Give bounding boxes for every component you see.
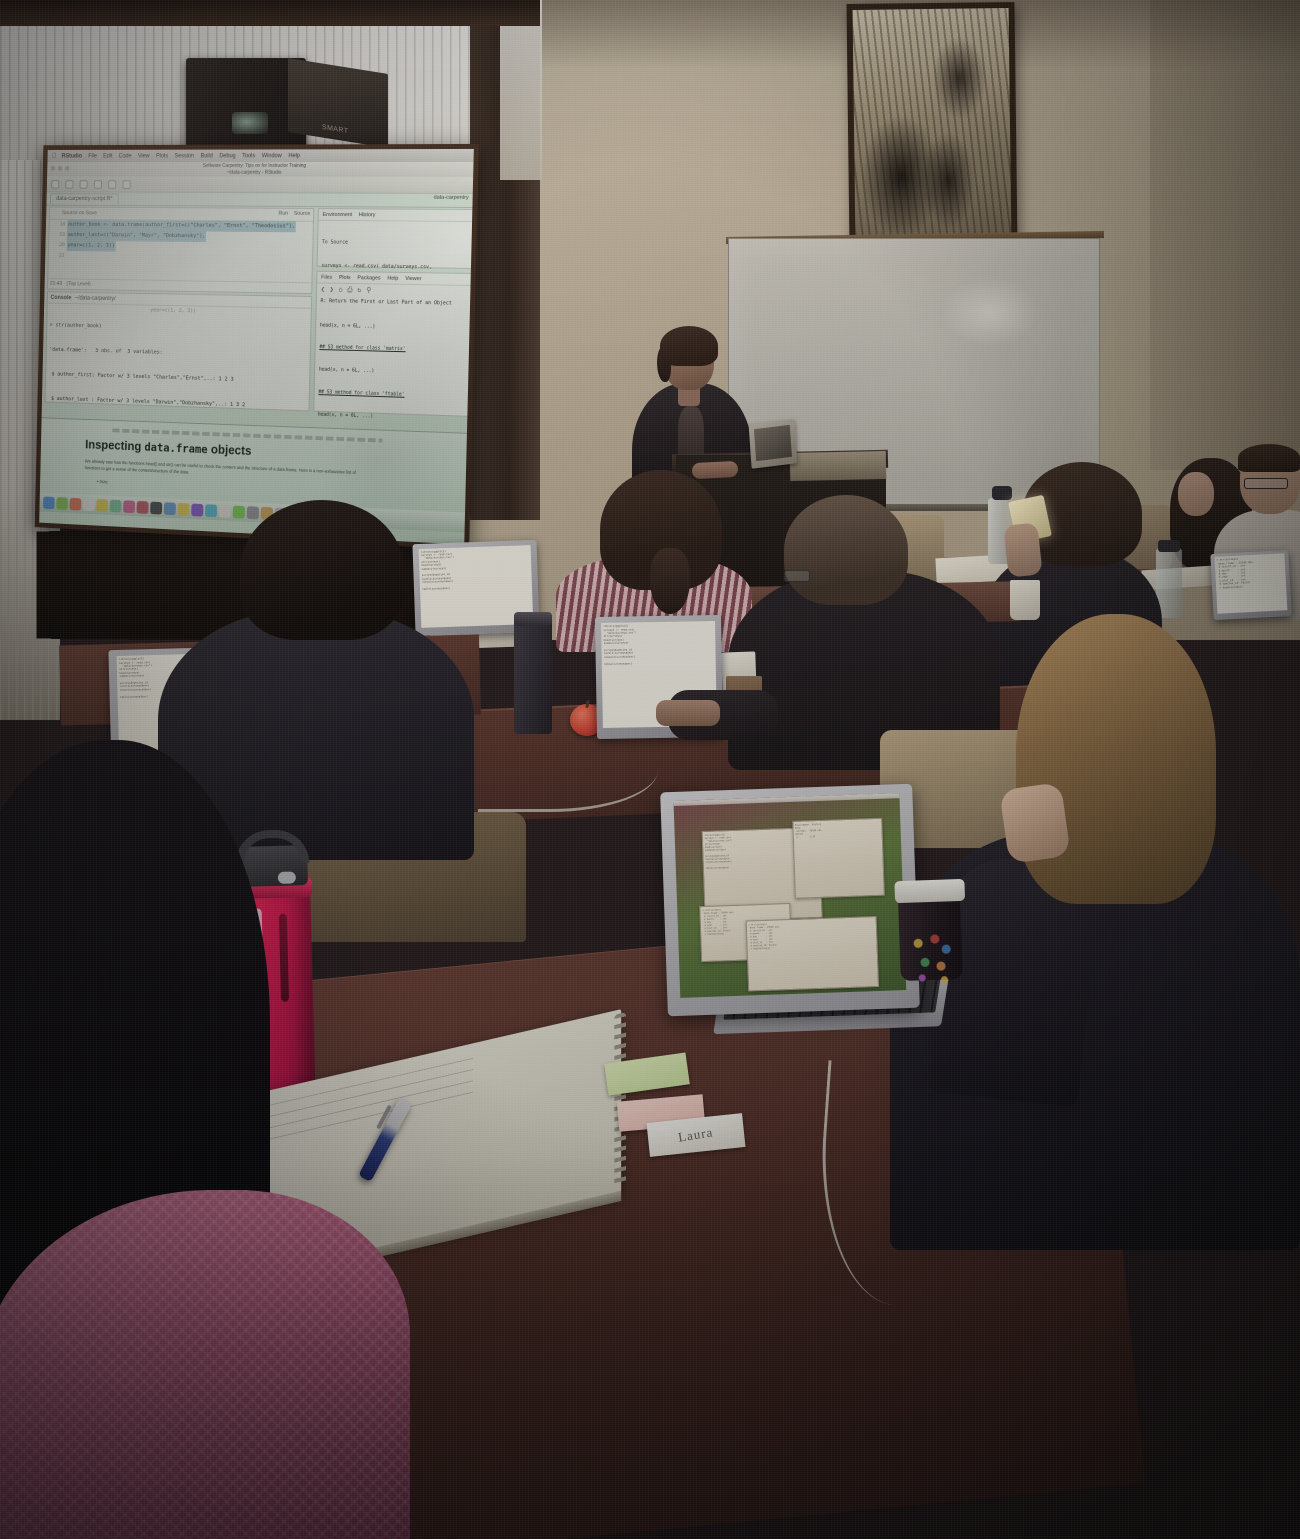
source-on-save-label[interactable]: Source on Save xyxy=(62,210,97,216)
zoom-window-button[interactable] xyxy=(65,166,70,171)
ceiling-beam xyxy=(0,0,540,26)
projected-desktop:  RStudio File Edit Code View Plots Sess… xyxy=(39,149,474,545)
to-source-button[interactable]: To Source xyxy=(322,238,468,247)
bottle-release-button xyxy=(278,871,296,883)
project-badge[interactable]: data-carpentry xyxy=(434,195,469,201)
run-button[interactable]: Run xyxy=(278,211,288,217)
bottle-handle xyxy=(235,829,310,865)
attendee-blonde-hand xyxy=(999,782,1071,864)
mac-menu-bar[interactable]:  RStudio File Edit Code View Plots Sess… xyxy=(47,149,473,162)
refresh-icon[interactable]: ↻ xyxy=(357,286,361,295)
environment-pane[interactable]: Environment History To Source surveys <-… xyxy=(317,208,474,269)
help-line-3: head(x, n = 6L, ...) xyxy=(319,367,465,379)
menu-view[interactable]: View xyxy=(138,153,150,159)
slide-title-code: data.frame xyxy=(144,440,208,456)
presenter-laptop[interactable] xyxy=(749,419,798,469)
menu-session[interactable]: Session xyxy=(174,153,194,159)
projector-lens xyxy=(232,112,268,134)
eyeglasses-icon xyxy=(1244,478,1288,489)
scope-indicator[interactable]: (Top Level) xyxy=(66,281,90,287)
laptop-back-right-code: > str(surveys) 'data.frame': 35549 obs. … xyxy=(1214,554,1286,592)
console-ghost-text: year=c(1, 2, 3)) xyxy=(150,307,196,314)
projection-screen:  RStudio File Edit Code View Plots Sess… xyxy=(35,144,479,550)
foreground-laptop-menubar[interactable] xyxy=(673,793,900,806)
gutter-line-18: 18 xyxy=(49,220,65,231)
gutter-line-21: 21 xyxy=(49,251,65,262)
slide-title-after: objects xyxy=(208,443,252,458)
dock-icon-maps[interactable] xyxy=(110,499,122,512)
help-line-5: head(x, n = 6L, ...) xyxy=(318,412,464,425)
minimize-window-button[interactable] xyxy=(58,166,63,171)
editor-code[interactable]: author_book <- data.frame(author_first=c… xyxy=(66,220,311,282)
gutter-line-20: 20 xyxy=(49,240,65,251)
dock-icon-terminal[interactable] xyxy=(150,501,162,514)
right-wall xyxy=(1150,0,1300,470)
clear-bottle-cap xyxy=(1158,540,1180,552)
laptop-window-environment[interactable]: Environment History Data surveys 35549 o… xyxy=(792,817,885,899)
menu-window[interactable]: Window xyxy=(262,153,282,159)
name-card-text: Laura xyxy=(677,1124,714,1145)
attendee-foreground-pink-pattern xyxy=(0,1190,410,1539)
patterned-coffee-cup xyxy=(894,871,968,983)
dock-icon-notes[interactable] xyxy=(96,499,108,512)
menu-edit[interactable]: Edit xyxy=(103,153,112,159)
slide-title: Inspecting data.frame objects xyxy=(85,438,252,458)
projector-mirror-head xyxy=(288,58,388,148)
dock-icon-photos[interactable] xyxy=(123,500,135,513)
code-line-21: year=c(1, 2, 3)) xyxy=(67,241,116,252)
laptop-window-environment-text: Environment History Data surveys 35549 o… xyxy=(793,818,882,840)
tab-environment[interactable]: Environment xyxy=(323,212,353,218)
dock-icon-slack[interactable] xyxy=(191,503,203,516)
whiteboard-glare xyxy=(940,278,1040,346)
console-line-3: $ author_first: Factor w/ 3 levels "Char… xyxy=(49,370,307,386)
laptop-back-right-screen: > str(surveys) 'data.frame': 35549 obs. … xyxy=(1214,554,1287,614)
apple-logo-icon:  xyxy=(52,153,57,160)
print-icon[interactable]: ⎙ xyxy=(347,286,353,295)
attendee-left-hair xyxy=(240,500,404,640)
dark-thermos xyxy=(514,618,552,734)
console-label: Console xyxy=(50,295,71,301)
close-window-button[interactable] xyxy=(51,166,56,171)
save-all-icon[interactable] xyxy=(94,180,102,189)
rstudio-toolbar[interactable] xyxy=(47,176,473,194)
console-line-1: > str(author_book) xyxy=(50,322,308,336)
laptop-glasses-code: library(ggplot2) surveys <- read.csv( "d… xyxy=(601,621,715,668)
dock-icon-mail[interactable] xyxy=(56,497,68,510)
slide-body-text: We already saw how the functions head() … xyxy=(85,458,363,483)
save-icon[interactable] xyxy=(80,180,88,189)
menu-code[interactable]: Code xyxy=(119,153,132,159)
coffee-cup-white-b xyxy=(1010,580,1040,620)
metal-bottle-cap xyxy=(992,486,1012,500)
slide-area: Inspecting data.frame objects We already… xyxy=(39,417,467,544)
foreground-laptop[interactable]: library(ggplot2) surveys <- read.csv( "d… xyxy=(660,784,920,1017)
podium-side-shelf xyxy=(790,451,887,481)
attendee-glasses-hair xyxy=(784,495,908,605)
laptop-window-browser-text: > str(surveys) 'data.frame': 35549 obs. … xyxy=(746,917,877,953)
dock-icon-rstudio[interactable] xyxy=(164,502,176,515)
window-glass xyxy=(500,0,542,180)
foreground-laptop-screen: library(ggplot2) surveys <- read.csv( "d… xyxy=(673,793,907,998)
dock-icon-chrome[interactable] xyxy=(177,502,189,515)
source-pane-header-right[interactable]: Run Source xyxy=(278,211,310,217)
mac-dock[interactable] xyxy=(39,493,465,533)
rstudio-title-bar: Software Carpentry: Tips on for Instruct… xyxy=(47,162,473,177)
editor-tab-bar[interactable]: data-carpentry-script.R* xyxy=(46,192,472,208)
search-icon[interactable]: ⚲ xyxy=(366,286,371,295)
new-file-icon[interactable] xyxy=(51,180,59,189)
cursor-position: 21:43 xyxy=(50,281,62,287)
menu-file[interactable]: File xyxy=(88,153,97,159)
instructor-hands xyxy=(692,461,739,479)
thermos-cap xyxy=(514,612,552,626)
attendee-blonde-hair xyxy=(1016,614,1216,904)
menu-build[interactable]: Build xyxy=(200,153,212,159)
source-button[interactable]: Source xyxy=(294,211,311,217)
attendee-back-right-face xyxy=(1178,472,1214,516)
attendee-glasses-lens-icon xyxy=(784,570,810,582)
dock-icon-preview[interactable] xyxy=(205,504,217,517)
laptop-striped-code: library(ggplot2) surveys <- read.csv( "d… xyxy=(419,545,532,594)
dock-icon-textedit[interactable] xyxy=(219,504,231,517)
menu-rstudio[interactable]: RStudio xyxy=(62,153,83,159)
tab-history[interactable]: History xyxy=(359,212,376,218)
instructor-hair-side xyxy=(657,346,671,382)
dock-icon-messages[interactable] xyxy=(233,505,245,518)
gutter-line-19: 19 xyxy=(49,230,65,241)
open-file-icon[interactable] xyxy=(65,180,73,189)
editor-gutter: 18 19 20 21 xyxy=(48,220,67,279)
files-help-pane[interactable]: Files Plots Packages Help Viewer ❮ ❯ ⌂ ⎙… xyxy=(313,271,472,417)
coffee-cup-body xyxy=(898,893,963,981)
dock-icon-system-prefs[interactable] xyxy=(247,506,259,519)
attendee-glasses-man-hair xyxy=(1238,444,1300,472)
artwork-image xyxy=(853,8,1012,242)
console-path: ~/data-carpentry/ xyxy=(75,295,116,301)
window-traffic-lights[interactable] xyxy=(51,166,70,171)
menu-tools[interactable]: Tools xyxy=(242,153,255,159)
laptop-back-right[interactable]: > str(surveys) 'data.frame': 35549 obs. … xyxy=(1210,550,1291,620)
source-editor-pane[interactable]: Source on Save Run Source 18 19 20 21 au… xyxy=(47,206,314,294)
coffee-cup-pattern xyxy=(908,927,958,991)
menu-help[interactable]: Help xyxy=(288,153,300,159)
slide-title-before: Inspecting xyxy=(85,438,145,454)
dock-icon-music[interactable] xyxy=(137,500,149,513)
console-line-4: $ author_last : Factor w/ 3 levels "Darw… xyxy=(48,394,306,411)
dock-icon-safari[interactable] xyxy=(70,497,82,510)
tab-packages[interactable]: Packages xyxy=(357,275,380,281)
menu-plots[interactable]: Plots xyxy=(156,153,168,159)
home-icon[interactable]: ⌂ xyxy=(338,286,342,295)
slide-bullet: • Size: xyxy=(97,479,109,484)
attendee-curly-hand xyxy=(1003,522,1042,577)
classroom-photo: SMART  RStudio File Edit Code View Plot… xyxy=(0,0,1300,1539)
help-line-2: ## S3 method for class 'matrix' xyxy=(319,345,465,356)
coffee-cup-lid xyxy=(894,879,965,903)
console-pane[interactable]: Console ~/data-carpentry/ year=c(1, 2, 3… xyxy=(45,291,313,411)
attendee-striped-ponytail xyxy=(650,548,690,614)
dock-icon-calendar[interactable] xyxy=(83,498,95,511)
laptop-window-browser[interactable]: > str(surveys) 'data.frame': 35549 obs. … xyxy=(745,916,879,992)
framed-artwork xyxy=(847,2,1018,248)
window-subtitle: ~/data-carpentry - RStudio xyxy=(226,169,281,175)
back-icon[interactable]: ❮ xyxy=(321,285,325,294)
forward-icon[interactable]: ❯ xyxy=(329,286,333,295)
tab-files[interactable]: Files xyxy=(321,274,332,280)
help-line-4: ## S3 method for class 'ftable' xyxy=(318,389,464,401)
tab-plots[interactable]: Plots xyxy=(339,274,351,280)
menu-debug[interactable]: Debug xyxy=(219,153,236,159)
workspace-icon[interactable] xyxy=(122,180,130,189)
help-line-1: head(x, n = 6L, ...) xyxy=(320,322,466,333)
tab-data-carpentry-script[interactable]: data-carpentry-script.R* xyxy=(50,193,119,204)
tab-help[interactable]: Help xyxy=(387,275,398,281)
dock-icon-finder[interactable] xyxy=(43,496,55,509)
tab-viewer[interactable]: Viewer xyxy=(405,275,421,281)
print-icon[interactable] xyxy=(108,180,116,189)
console-line-2: 'data.frame': 3 obs. of 3 variables: xyxy=(49,346,307,361)
attendee-glasses-hands xyxy=(656,700,720,726)
